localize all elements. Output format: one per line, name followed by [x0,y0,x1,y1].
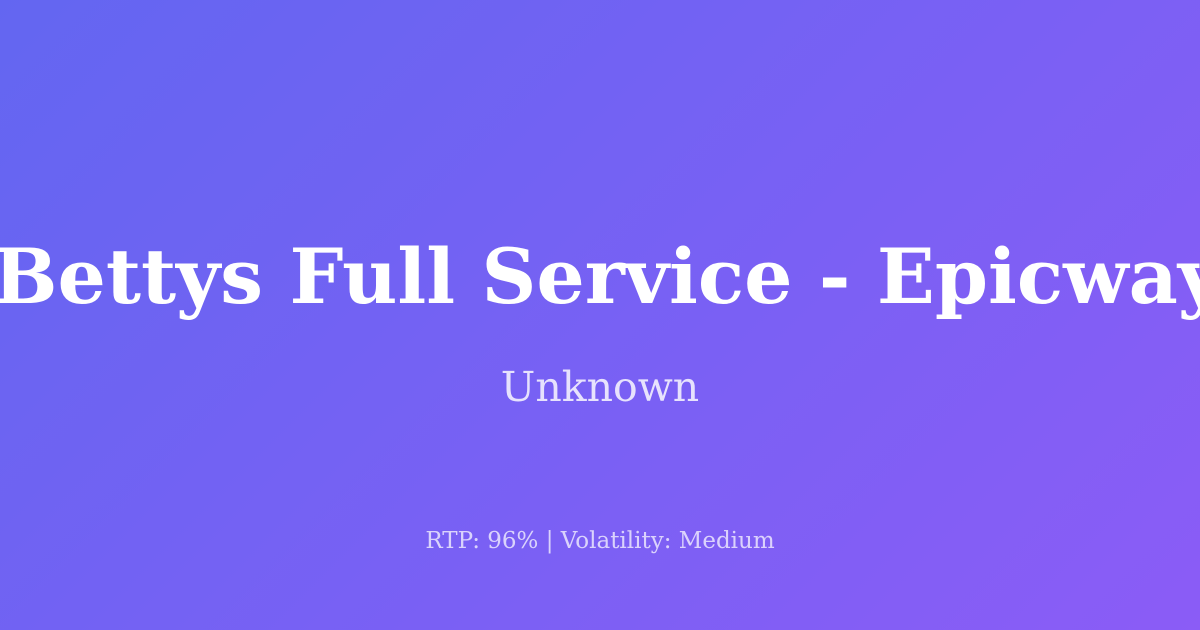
page-title: Bettys Full Service - Epicways [0,237,1200,316]
og-preview-card: F0 Bettys Full Service - Epicways Unknow… [0,0,1200,630]
game-stats-meta: RTP: 96% | Volatility: Medium [0,528,1200,556]
provider-subtitle: Unknown [0,364,1200,411]
title-row: F0 Bettys Full Service - Epicways [0,237,1200,316]
